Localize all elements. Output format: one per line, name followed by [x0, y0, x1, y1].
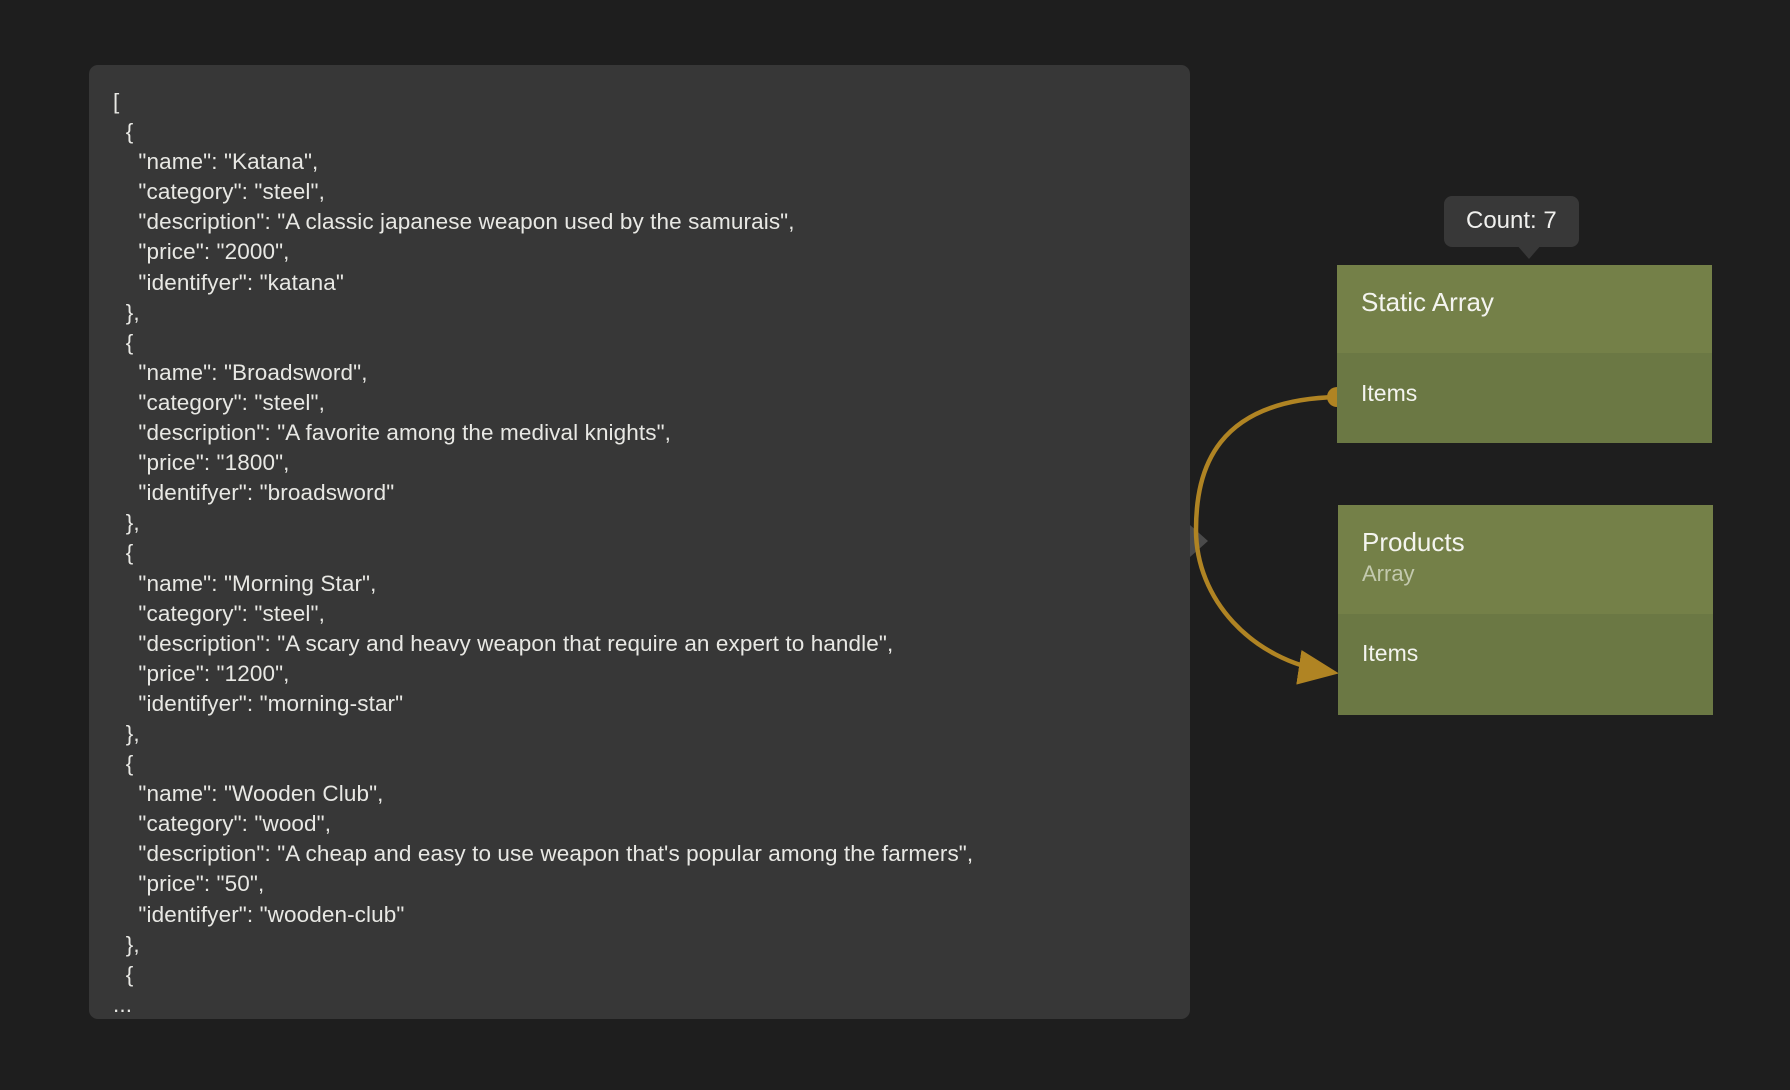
- panel-collapse-handle-icon[interactable]: [1190, 525, 1208, 557]
- node-body-static-array: Items: [1337, 353, 1712, 443]
- node-title: Static Array: [1361, 287, 1688, 318]
- count-tooltip: Count: 7: [1444, 196, 1579, 247]
- node-row-items[interactable]: Items: [1337, 353, 1712, 434]
- node-card-static-array[interactable]: Static Array Items: [1337, 265, 1712, 443]
- node-header-static-array[interactable]: Static Array: [1337, 265, 1712, 353]
- node-subtitle: Array: [1362, 560, 1689, 589]
- count-tooltip-arrow-icon: [1516, 244, 1542, 259]
- json-source-code: [ { "name": "Katana", "category": "steel…: [89, 87, 1190, 1019]
- node-card-products[interactable]: Products Array Items: [1338, 505, 1713, 715]
- node-header-products[interactable]: Products Array: [1338, 505, 1713, 614]
- node-body-products: Items: [1338, 614, 1713, 715]
- connector-curve: [1196, 397, 1337, 672]
- json-source-panel[interactable]: [ { "name": "Katana", "category": "steel…: [89, 65, 1190, 1019]
- node-row-items[interactable]: Items: [1338, 614, 1713, 694]
- node-title: Products: [1362, 527, 1689, 558]
